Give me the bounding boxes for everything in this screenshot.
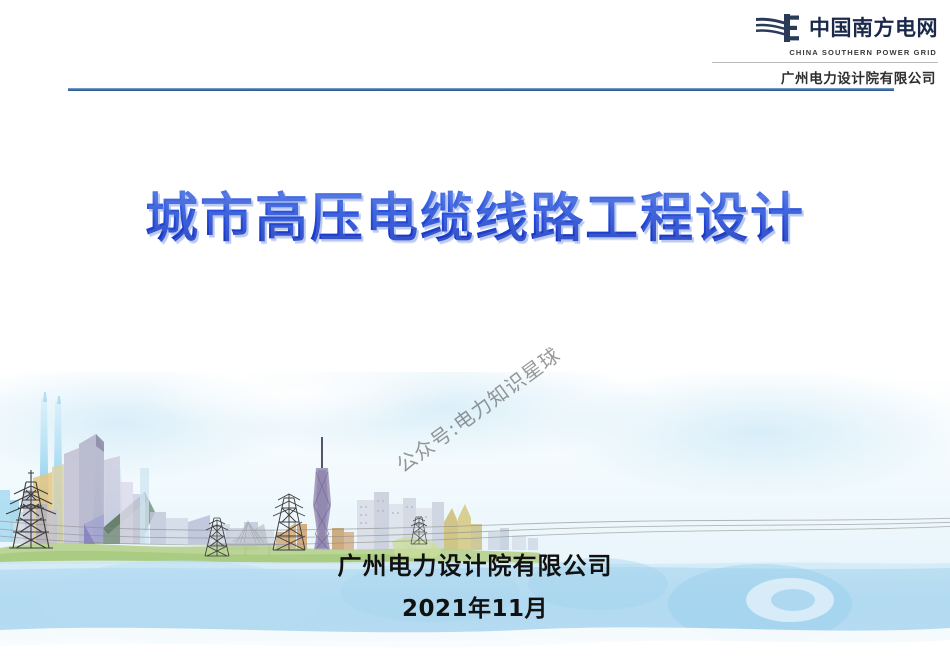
footer-company-name: 广州电力设计院有限公司 [0, 546, 950, 581]
logo-divider [712, 62, 938, 63]
page-title: 城市高压电缆线路工程设计 [0, 186, 950, 252]
logo-row: 中国南方电网 [690, 10, 938, 46]
logo-company-name-cn: 中国南方电网 [809, 18, 938, 39]
header-logo-block: 中国南方电网 CHINA SOUTHERN POWER GRID 广州电力设计院… [690, 10, 938, 87]
logo-subsidiary-name: 广州电力设计院有限公司 [690, 67, 938, 87]
csg-logo-mark [755, 12, 801, 44]
watercolor-skyline-illustration [0, 372, 950, 672]
presentation-slide: 中国南方电网 CHINA SOUTHERN POWER GRID 广州电力设计院… [0, 0, 950, 672]
footer-date: 2021年11月 [0, 589, 950, 623]
header-horizontal-rule [68, 88, 894, 91]
logo-company-name-en: CHINA SOUTHERN POWER GRID [690, 48, 938, 57]
